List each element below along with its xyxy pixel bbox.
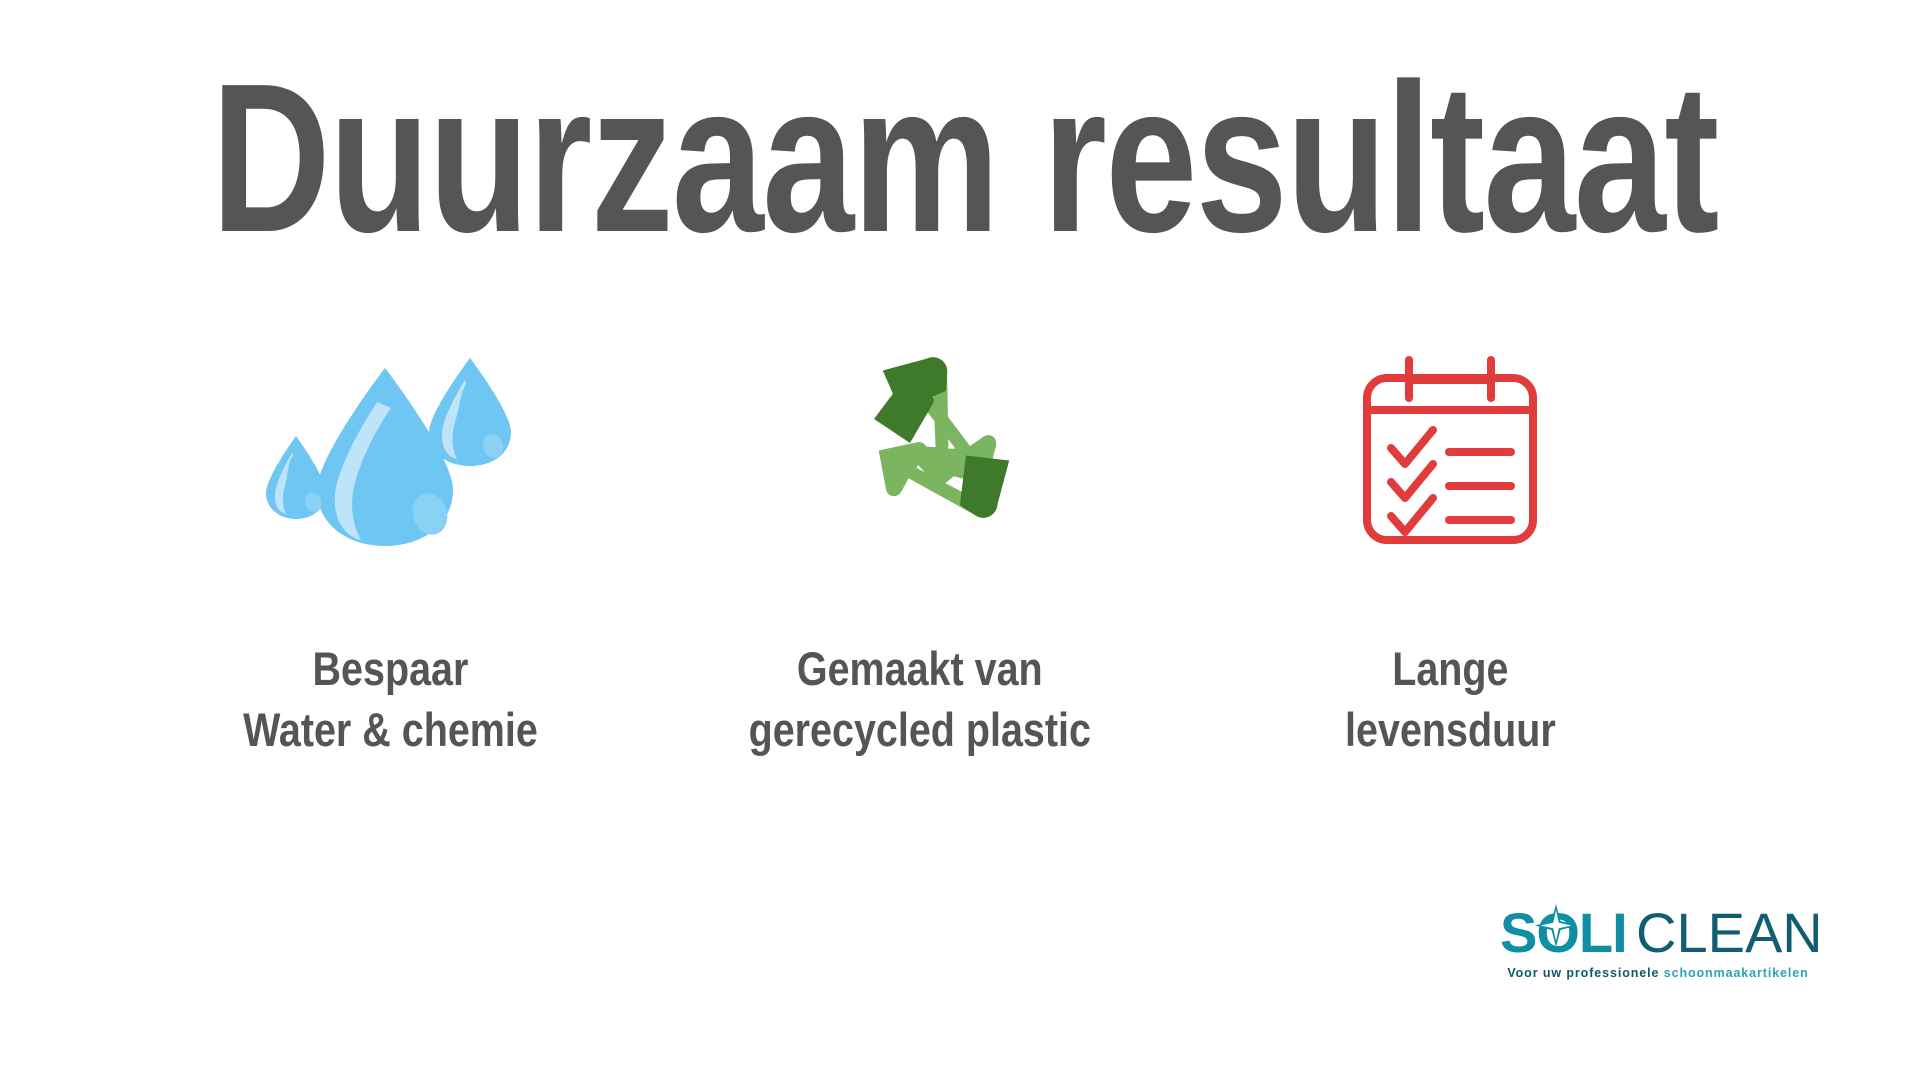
caption-line-2: levensduur bbox=[1345, 699, 1556, 760]
logo-wordmark: SOLI CLEAN bbox=[1498, 902, 1818, 964]
feature-caption-water: Bespaar Water & chemie bbox=[243, 638, 538, 760]
feature-columns: Bespaar Water & chemie bbox=[140, 330, 1700, 760]
caption-line-1: Lange bbox=[1345, 638, 1556, 699]
slide-canvas: Duurzaam resultaat bbox=[0, 0, 1920, 1080]
recycle-icon bbox=[770, 330, 1070, 570]
logo-tagline: Voor uw professionele schoonmaakartikele… bbox=[1507, 966, 1808, 980]
water-drops-icon bbox=[240, 330, 540, 570]
checklist-calendar-icon bbox=[1300, 330, 1600, 570]
caption-line-2: gerecycled plastic bbox=[749, 699, 1091, 760]
tagline-part-1: Voor uw professionele bbox=[1507, 966, 1659, 980]
caption-line-1: Gemaakt van bbox=[749, 638, 1091, 699]
feature-column-recycle: Gemaakt van gerecycled plastic bbox=[670, 330, 1170, 760]
brand-logo[interactable]: SOLI CLEAN Voor uw professionele schoonm… bbox=[1498, 902, 1818, 982]
svg-text:CLEAN: CLEAN bbox=[1636, 902, 1818, 964]
feature-caption-recycle: Gemaakt van gerecycled plastic bbox=[749, 638, 1091, 760]
caption-line-2: Water & chemie bbox=[243, 699, 538, 760]
tagline-part-2: schoonmaakartikelen bbox=[1664, 966, 1809, 980]
feature-caption-durability: Lange levensduur bbox=[1345, 638, 1556, 760]
svg-text:SOLI: SOLI bbox=[1500, 902, 1627, 964]
feature-column-water: Bespaar Water & chemie bbox=[140, 330, 640, 760]
caption-line-1: Bespaar bbox=[243, 638, 538, 699]
page-title: Duurzaam resultaat bbox=[211, 52, 1709, 264]
feature-column-durability: Lange levensduur bbox=[1200, 330, 1700, 760]
